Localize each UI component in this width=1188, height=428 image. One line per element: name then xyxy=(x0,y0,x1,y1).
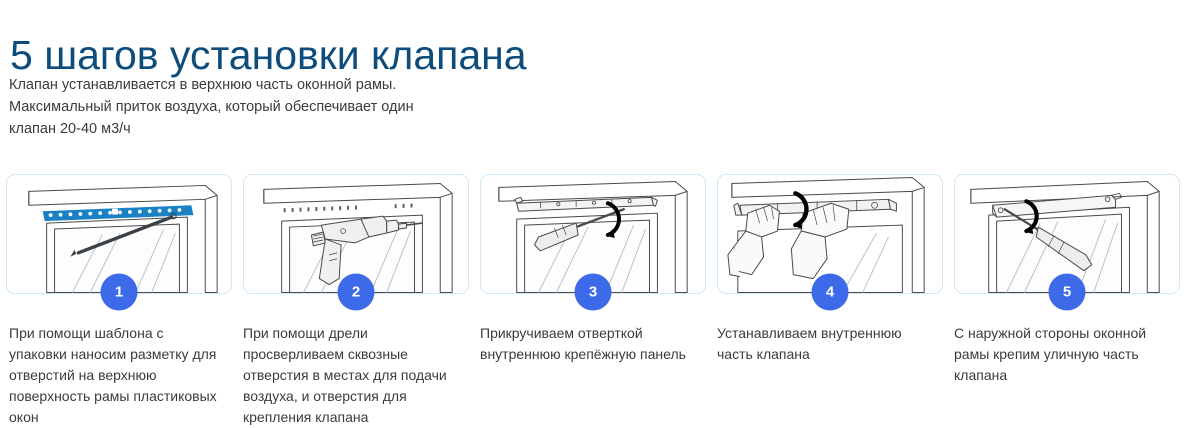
intro-line-2: Максимальный приток воздуха, который обе… xyxy=(9,96,609,118)
step-card-1[interactable]: 1 При помощи шаблона с упаковки наносим … xyxy=(6,174,232,428)
step-card-5[interactable]: 5 С наружной стороны оконной рамы крепим… xyxy=(954,174,1180,428)
step-caption-3: Прикручиваем отверткой внутреннюю крепёж… xyxy=(480,323,706,365)
steps-list: 1 При помощи шаблона с упаковки наносим … xyxy=(6,174,1184,428)
step-badge-1: 1 xyxy=(101,274,138,311)
step-badge-4: 4 xyxy=(812,274,849,311)
step-caption-2: При помощи дрели просверливаем сквозные … xyxy=(243,323,469,428)
intro-text: Клапан устанавливается в верхнюю часть о… xyxy=(9,74,609,140)
step-caption-4: Устанавливаем внутреннюю часть клапана xyxy=(717,323,943,365)
step-badge-5: 5 xyxy=(1049,274,1086,311)
step-card-4[interactable]: 4 Устанавливаем внутреннюю часть клапана xyxy=(717,174,943,428)
intro-line-3: клапан 20-40 м3/ч xyxy=(9,118,609,140)
step-badge-3: 3 xyxy=(575,274,612,311)
step-badge-2: 2 xyxy=(338,274,375,311)
page-title: 5 шагов установки клапана xyxy=(10,31,527,79)
step-card-2[interactable]: 2 При помощи дрели просверливаем сквозны… xyxy=(243,174,469,428)
step-card-3[interactable]: 3 Прикручиваем отверткой внутреннюю креп… xyxy=(480,174,706,428)
step-caption-1: При помощи шаблона с упаковки наносим ра… xyxy=(6,323,232,428)
installation-steps-page: 5 шагов установки клапана Клапан устанав… xyxy=(0,0,1188,420)
intro-line-1: Клапан устанавливается в верхнюю часть о… xyxy=(9,74,609,96)
step-caption-5: С наружной стороны оконной рамы крепим у… xyxy=(954,323,1180,386)
